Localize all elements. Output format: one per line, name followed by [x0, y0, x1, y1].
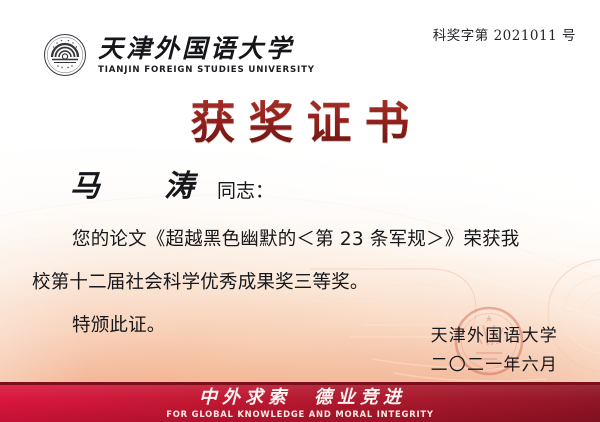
university-name-cn: 天津外国语大学: [98, 36, 315, 61]
recipient-name: 马 涛: [70, 172, 211, 202]
university-seal-icon: [43, 33, 87, 77]
certificate-serial-number: 科奖字第 2021011 号: [433, 24, 576, 44]
body-line: 校第十二届社会科学优秀成果奖三等奖。: [32, 261, 572, 304]
recipient-suffix: 同志：: [217, 182, 274, 201]
motto-banner: 中外求索 德业竞进 FOR GLOBAL KNOWLEDGE AND MORAL…: [0, 382, 600, 422]
issuer-name: 天津外国语大学: [431, 322, 558, 351]
letterhead: 天津外国语大学 TIANJIN FOREIGN STUDIES UNIVERSI…: [43, 33, 315, 77]
recipient-line: 马 涛 同志：: [70, 172, 274, 202]
university-name-en: TIANJIN FOREIGN STUDIES UNIVERSITY: [98, 66, 315, 75]
certificate-title: 获奖证书: [0, 100, 600, 145]
signature-block: 天津外国语大学 二〇二一年六月: [431, 322, 558, 380]
motto-cn: 中外求索 德业竞进: [194, 389, 406, 407]
motto-en: FOR GLOBAL KNOWLEDGE AND MORAL INTEGRITY: [166, 410, 434, 418]
body-line: 您的论文《超越黑色幽默的＜第 23 条军规＞》荣获我: [32, 218, 572, 261]
issue-date: 二〇二一年六月: [431, 351, 558, 380]
award-certificate: 科奖字第 2021011 号 天津外国语大学 TIANJIN FOREIG: [0, 0, 600, 422]
